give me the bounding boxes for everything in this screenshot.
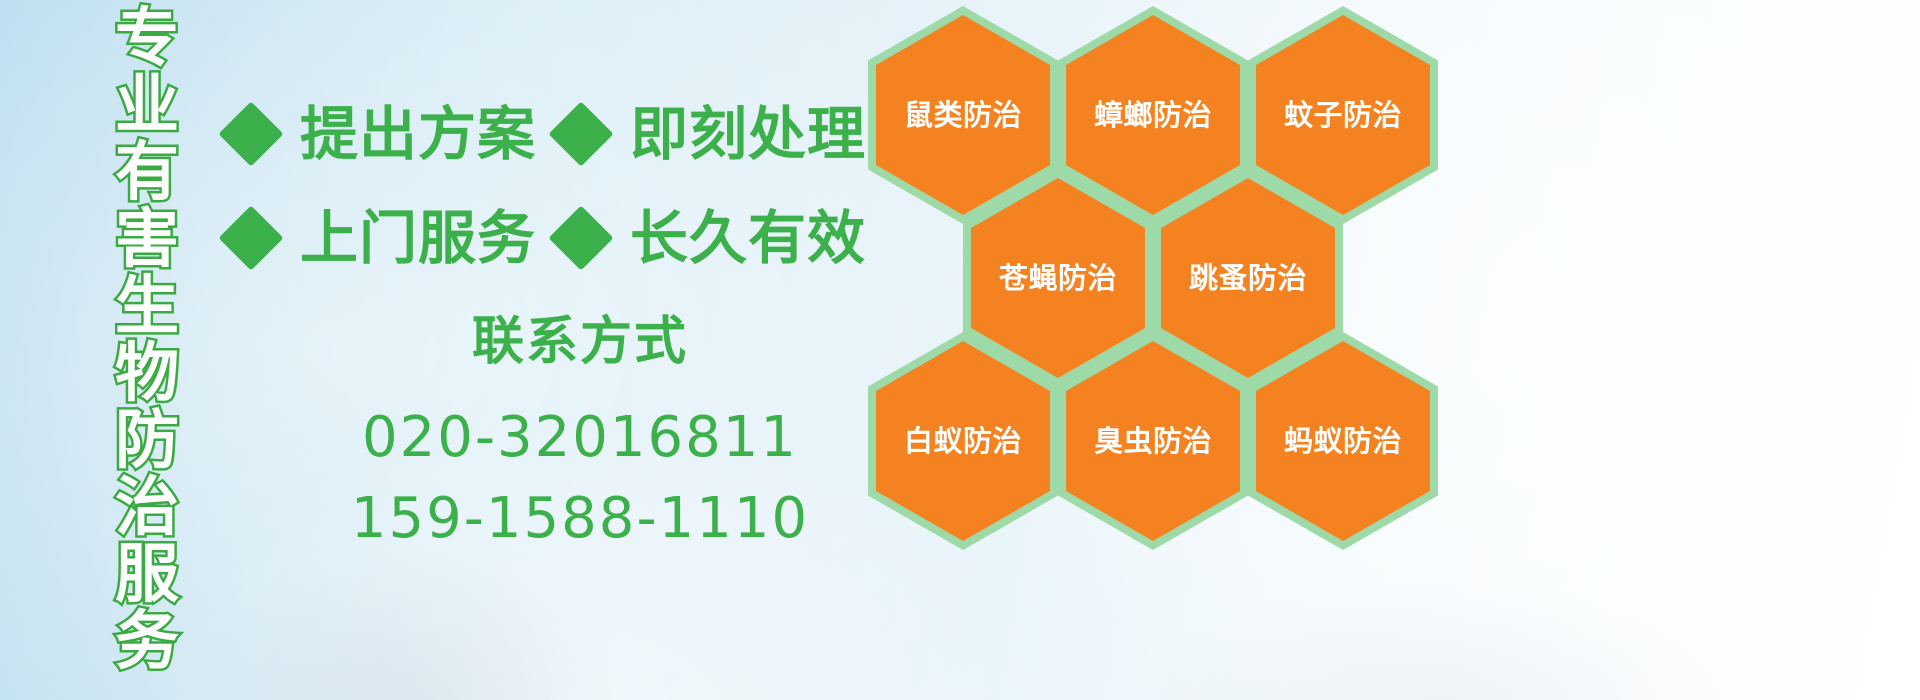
diamond-icon xyxy=(548,101,613,166)
feature-label: 即刻处理 xyxy=(630,105,866,163)
hex-label: 臭虫防治 xyxy=(1094,427,1212,456)
feature-item: 即刻处理 xyxy=(558,105,866,163)
hex-inner: 蚂蚁防治 xyxy=(1256,341,1430,541)
contact-phone-mobile[interactable]: 159-1588-1110 xyxy=(300,478,860,559)
vertical-title-char: 治 xyxy=(115,475,179,542)
hex-label: 白蚁防治 xyxy=(904,427,1022,456)
service-honeycomb: 鼠类防治 蟑螂防治 蚊子防治 苍蝇防治 跳蚤防治 白蚁防治 xyxy=(860,0,1480,700)
vertical-title-char: 服 xyxy=(115,542,179,609)
hex-inner: 白蚁防治 xyxy=(876,341,1050,541)
hex-inner: 鼠类防治 xyxy=(876,15,1050,215)
hex-label: 苍蝇防治 xyxy=(999,264,1117,293)
background-shadow-bottom-left xyxy=(192,546,614,700)
vertical-title: 专 业 有 害 生 物 防 治 服 务 xyxy=(104,6,190,566)
vertical-title-char: 专 xyxy=(115,6,179,73)
feature-item: 上门服务 xyxy=(228,209,558,267)
hex-label: 跳蚤防治 xyxy=(1189,264,1307,293)
hex-label: 蚊子防治 xyxy=(1284,101,1402,130)
promo-banner: 专 业 有 害 生 物 防 治 服 务 提出方案 即刻处理 上门服务 xyxy=(0,0,1920,700)
hex-inner: 跳蚤防治 xyxy=(1161,178,1335,378)
hex-label: 蟑螂防治 xyxy=(1094,101,1212,130)
feature-label: 长久有效 xyxy=(630,209,866,267)
vertical-title-char: 有 xyxy=(115,140,179,207)
hex-label: 蚂蚁防治 xyxy=(1284,427,1402,456)
contact-title: 联系方式 xyxy=(300,310,860,375)
feature-label: 提出方案 xyxy=(300,105,536,163)
feature-item: 长久有效 xyxy=(558,209,866,267)
hex-label: 鼠类防治 xyxy=(904,101,1022,130)
diamond-icon xyxy=(218,101,283,166)
feature-row: 提出方案 即刻处理 xyxy=(228,82,868,186)
contact-block: 联系方式 020-32016811 159-1588-1110 xyxy=(300,310,860,559)
hex-inner: 苍蝇防治 xyxy=(971,178,1145,378)
vertical-title-char: 害 xyxy=(115,207,179,274)
contact-phone-landline[interactable]: 020-32016811 xyxy=(300,397,860,478)
vertical-title-char: 物 xyxy=(115,341,179,408)
vertical-title-char: 防 xyxy=(115,408,179,475)
feature-list: 提出方案 即刻处理 上门服务 长久有效 xyxy=(228,82,868,290)
vertical-title-char: 业 xyxy=(115,73,179,140)
feature-label: 上门服务 xyxy=(300,209,536,267)
vertical-title-char: 务 xyxy=(115,609,179,676)
diamond-icon xyxy=(548,205,613,270)
feature-row: 上门服务 长久有效 xyxy=(228,186,868,290)
hex-inner: 臭虫防治 xyxy=(1066,341,1240,541)
hex-inner: 蚊子防治 xyxy=(1256,15,1430,215)
hex-inner: 蟑螂防治 xyxy=(1066,15,1240,215)
feature-item: 提出方案 xyxy=(228,105,558,163)
vertical-title-char: 生 xyxy=(115,274,179,341)
diamond-icon xyxy=(218,205,283,270)
